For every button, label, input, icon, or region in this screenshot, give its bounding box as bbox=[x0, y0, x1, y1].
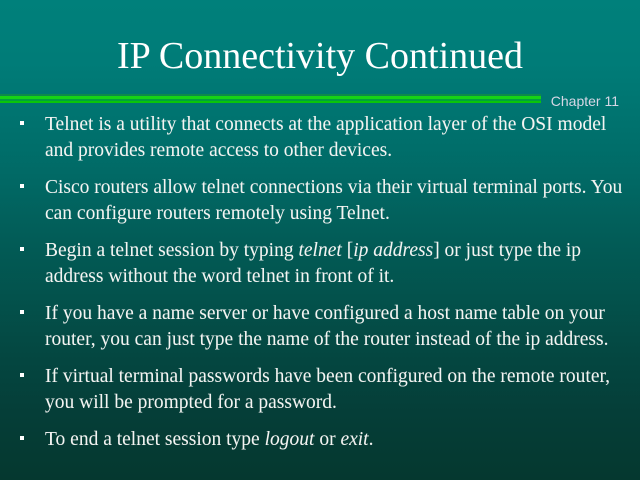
bullet-text: Begin a telnet session by typing telnet … bbox=[45, 238, 626, 290]
divider-band-lower bbox=[0, 101, 541, 103]
chapter-label: Chapter 11 bbox=[551, 93, 619, 109]
text-run: If you have a name server or have config… bbox=[45, 303, 608, 350]
square-bullet-icon bbox=[20, 184, 24, 188]
bullet-text: If you have a name server or have config… bbox=[45, 301, 626, 353]
bullet-item: Cisco routers allow telnet connections v… bbox=[0, 175, 640, 227]
emphasis-run: ip address bbox=[353, 240, 433, 261]
bullet-text: If virtual terminal passwords have been … bbox=[45, 364, 626, 416]
square-bullet-icon bbox=[20, 247, 24, 251]
text-run: If virtual terminal passwords have been … bbox=[45, 366, 610, 413]
emphasis-run: logout bbox=[265, 429, 315, 450]
title-divider-bar bbox=[0, 94, 541, 103]
emphasis-run: exit bbox=[340, 429, 368, 450]
square-bullet-icon bbox=[20, 373, 24, 377]
text-run: . bbox=[369, 429, 374, 450]
square-bullet-icon bbox=[20, 436, 24, 440]
square-bullet-icon bbox=[20, 121, 24, 125]
text-run: Telnet is a utility that connects at the… bbox=[45, 114, 606, 161]
emphasis-run: telnet bbox=[298, 240, 341, 261]
text-run: [ bbox=[342, 240, 353, 261]
bullet-item: To end a telnet session type logout or e… bbox=[0, 427, 640, 453]
bullet-list: Telnet is a utility that connects at the… bbox=[0, 112, 640, 464]
bullet-item: Begin a telnet session by typing telnet … bbox=[0, 238, 640, 290]
bullet-item: If virtual terminal passwords have been … bbox=[0, 364, 640, 416]
bullet-text: To end a telnet session type logout or e… bbox=[45, 427, 626, 453]
text-run: or bbox=[314, 429, 340, 450]
text-run: Cisco routers allow telnet connections v… bbox=[45, 177, 622, 224]
square-bullet-icon bbox=[20, 310, 24, 314]
text-run: Begin a telnet session by typing bbox=[45, 240, 298, 261]
bullet-text: Telnet is a utility that connects at the… bbox=[45, 112, 626, 164]
presentation-slide: IP Connectivity Continued Chapter 11 Tel… bbox=[0, 0, 640, 480]
text-run: To end a telnet session type bbox=[45, 429, 265, 450]
bullet-text: Cisco routers allow telnet connections v… bbox=[45, 175, 626, 227]
bullet-item: Telnet is a utility that connects at the… bbox=[0, 112, 640, 164]
bullet-item: If you have a name server or have config… bbox=[0, 301, 640, 353]
slide-title: IP Connectivity Continued bbox=[0, 34, 640, 78]
